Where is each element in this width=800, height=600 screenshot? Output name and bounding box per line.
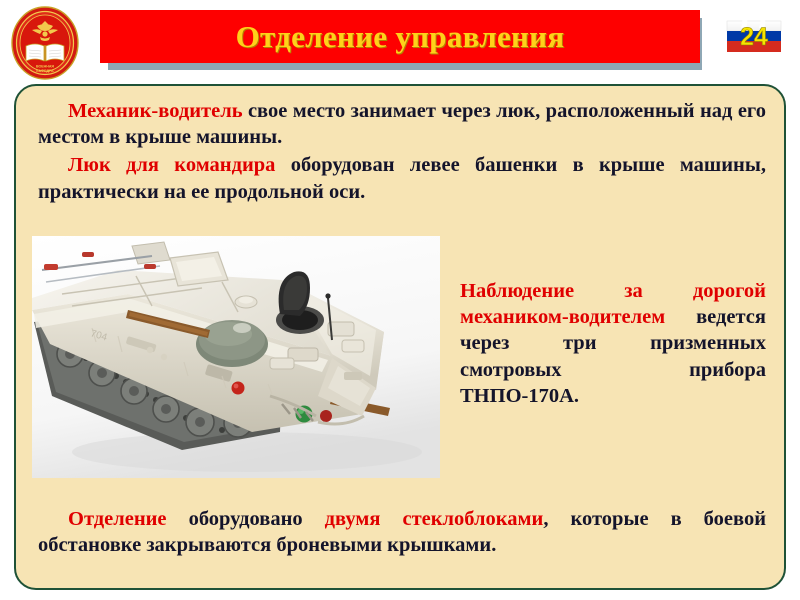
accent-dvumya-stekloblokami: двумя стеклоблоками [325,508,544,530]
slide-root: ВОЕННАЯ КАФЕДРА Отделение управления [0,0,800,600]
accent-mehanik-voditel: Механик-водитель [68,100,243,122]
emblem-caption-line2: КАФЕДРА [36,69,54,73]
page-title: Отделение управления [236,21,565,52]
slide-header: ВОЕННАЯ КАФЕДРА Отделение управления [0,0,800,80]
paragraph-driver-hatch: Механик-водитель свое место занимает чер… [38,98,766,150]
accent-lyuk-dlya-komandira: Люк для командира [68,154,275,176]
text-oborudovano: оборудовано [167,508,325,530]
bmp-vehicle-photo: 704 [32,236,440,478]
title-bar: Отделение управления [100,10,700,63]
paragraph-top: Механик-водитель свое место занимает чер… [38,98,766,205]
emblem-caption-line1: ВОЕННАЯ [36,65,54,69]
military-department-emblem: ВОЕННАЯ КАФЕДРА [10,6,80,80]
accent-otdelenie: Отделение [68,508,167,530]
slide-number-badge: 24 [723,12,785,58]
paragraph-right: Наблюдение за дорогой механиком-водителе… [460,278,766,409]
slide-number-text: 24 [740,23,768,51]
paragraph-bottom: Отделение оборудовано двумя стеклоблокам… [38,506,766,558]
paragraph-commander-hatch: Люк для командира оборудован левее башен… [38,152,766,204]
content-panel: Механик-водитель свое место занимает чер… [14,84,786,590]
